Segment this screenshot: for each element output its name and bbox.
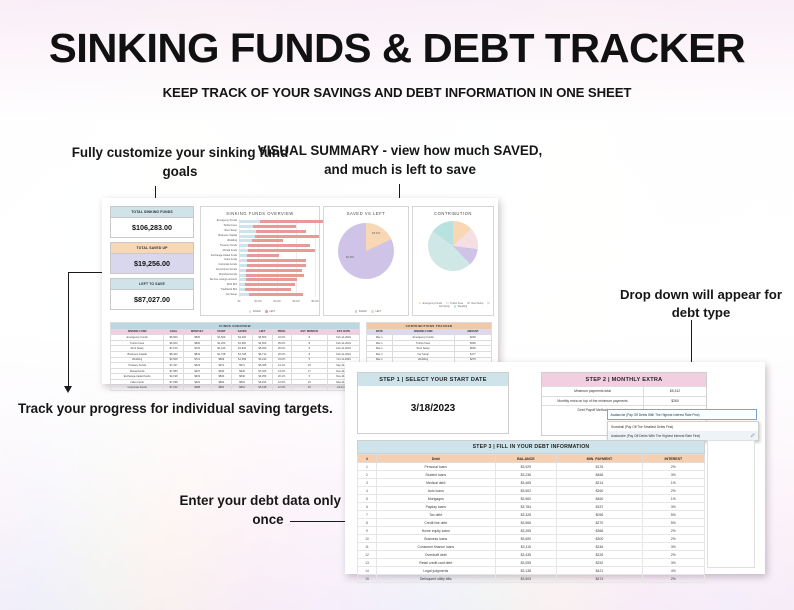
annotation-visual-summary: VISUAL SUMMARY - view how much SAVED, an… [250, 142, 550, 179]
chart-bar [239, 244, 315, 247]
table-group-title: CONTRIBUTIONS TRACKER [367, 323, 492, 330]
table-cell[interactable]: $3,236 [495, 471, 557, 479]
table-cell[interactable]: $176 [557, 463, 643, 471]
table-cell[interactable]: $096 [557, 511, 643, 519]
table-cell[interactable]: $3,138 [495, 567, 557, 575]
table-cell[interactable]: $6,198 [253, 385, 273, 391]
table-row[interactable]: 2Student loans$3,236$4663% [358, 471, 705, 479]
legend-label-left: LEFT [269, 310, 275, 313]
kpi-value: $106,283.00 [110, 218, 194, 239]
chart-x-tick: $8,000 [311, 300, 318, 303]
chart-plot-area: $0$2,000$4,000$6,000$8,000 [239, 219, 315, 297]
chart-category-label: Municipal bonds [203, 273, 237, 276]
chart-bar [239, 269, 315, 272]
table-row[interactable]: 8Credit line debt$3,566$2705% [358, 519, 705, 527]
table-cell[interactable]: Home equity loans [377, 527, 496, 535]
annotation-track-progress: Track your progress for individual savin… [18, 398, 348, 419]
chart-bar [239, 278, 315, 281]
table-cell[interactable]: 5% [642, 519, 704, 527]
chart-category-label: Treasury bonds [203, 244, 237, 247]
row-value[interactable]: $5,312 [643, 387, 706, 396]
pie-label-left-pct: 81.9% [346, 255, 354, 259]
table-cell[interactable]: Auto loans [377, 487, 496, 495]
table-cell[interactable]: $270 [557, 519, 643, 527]
kpi-left-to-save: LEFT TO SAVE $87,027.00 [110, 278, 194, 310]
chart-bar-left [246, 269, 302, 272]
chart-bar-left [260, 220, 325, 223]
table-cell[interactable]: 6 [358, 503, 377, 511]
table-row[interactable]: 9Home equity loans$3,265$3662% [358, 527, 705, 535]
table-cell[interactable]: Payday loans [377, 503, 496, 511]
debt-information-table[interactable]: #DebtBALANCEMIN. PAYMENTINTEREST 1Person… [357, 454, 705, 583]
chart-bar [239, 274, 315, 277]
chart-category-label: Traditional IRA [203, 288, 237, 291]
chart-legend: SAVED LEFT [324, 310, 408, 313]
table-cell[interactable]: 1 [358, 463, 377, 471]
table-cell[interactable]: 12.3% [272, 385, 291, 391]
table-cell[interactable]: Personal loans [377, 463, 496, 471]
table-cell[interactable]: $3,929 [495, 463, 557, 471]
table-cell[interactable]: $864 [232, 385, 253, 391]
chart-bar-left [246, 274, 304, 277]
table-cell[interactable]: Credit line debt [377, 519, 496, 527]
table-row[interactable]: 7Tax debt$3,328$0965% [358, 511, 705, 519]
table-cell[interactable]: $466 [557, 471, 643, 479]
dropdown-option-snowball[interactable]: Snowball (Pay Off The Smallest Debts Fir… [608, 422, 758, 431]
table-row[interactable]: 14Legal judgments$3,138$4214% [358, 567, 705, 575]
table-cell[interactable]: 1% [642, 479, 704, 487]
legend-label-left: LEFT [375, 310, 381, 313]
chart-bar [239, 288, 315, 291]
chart-contribution[interactable]: CONTRIBUTION Emergency FundsTuition Fees… [412, 206, 494, 316]
debt-payoff-method-select[interactable]: Avalanche (Pay Off Debts With The Highes… [607, 409, 757, 420]
chart-bar [239, 283, 315, 286]
kpi-value: $87,027.00 [110, 290, 194, 311]
table-cell[interactable]: 10 [358, 535, 377, 543]
chart-x-tick: $0 [238, 300, 241, 303]
chart-bar [239, 264, 315, 267]
table-cell[interactable]: 4 [358, 487, 377, 495]
legend-label: Wedding [458, 305, 467, 308]
chart-bar-left [246, 278, 297, 281]
step2-row-monthly-extra: Monthly extra on top of the minimum paym… [542, 396, 706, 406]
table-cell[interactable]: $214 [557, 479, 643, 487]
dropdown-option-avalanche[interactable]: Avalanche (Pay Off Debts With The Highes… [608, 431, 758, 440]
table-cell[interactable]: 3% [642, 471, 704, 479]
table-cell[interactable]: 2% [642, 535, 704, 543]
table-cell[interactable]: $366 [557, 527, 643, 535]
start-date-value[interactable]: 3/18/2023 [358, 386, 508, 414]
chart-bar-saved [239, 235, 255, 238]
table-cell[interactable]: 8 [358, 519, 377, 527]
pie-shape [428, 221, 478, 271]
debt-tracker-screenshot[interactable]: STEP 1 | SELECT YOUR START DATE 3/18/202… [345, 362, 765, 574]
table-cell[interactable]: 2% [642, 527, 704, 535]
table-cell[interactable]: 7 [358, 511, 377, 519]
chart-saved-vs-left[interactable]: SAVED VS LEFT 81.9% 18.1% SAVED LEFT [323, 206, 409, 316]
table-cell[interactable]: $3,502 [495, 487, 557, 495]
chart-bar [239, 249, 315, 252]
annotation-dropdown-debt-type: Drop down will appear for debt type [608, 286, 794, 322]
table-row[interactable]: 15Delinquent utility bills$3,503$4742% [358, 575, 705, 583]
chart-bar-left [249, 293, 302, 296]
step1-title: STEP 1 | SELECT YOUR START DATE [358, 373, 508, 386]
kpi-caption: LEFT TO SAVE [110, 278, 194, 290]
chart-category-label: Emergency Funds [203, 219, 237, 222]
table-cell[interactable]: Corporate bonds [111, 385, 164, 391]
column-header: INTEREST [642, 455, 704, 463]
table-cell[interactable]: 2% [642, 575, 704, 583]
table-cell[interactable]: $3,690 [495, 535, 557, 543]
chart-bar [239, 225, 315, 228]
legend-swatch [454, 305, 457, 308]
table-cell[interactable]: Retail credit card debt [377, 559, 496, 567]
funds-overview-table[interactable]: FUNDS OVERVIEW SINKING FUNDGOALMONTHLYST… [110, 322, 360, 391]
table-cell[interactable]: 3% [642, 503, 704, 511]
kpi-total-sinking-funds: TOTAL SINKING FUNDS $106,283.00 [110, 206, 194, 238]
table-cell[interactable]: Delinquent utility bills [377, 575, 496, 583]
chart-category-label: Car Setup [203, 293, 237, 296]
table-cell[interactable]: $252 [557, 559, 643, 567]
step3-panel[interactable]: STEP 3 | FILL IN YOUR DEBT INFORMATION #… [357, 440, 705, 583]
legend-label: Car Setup [439, 305, 450, 308]
chart-category-label: Rent Setup [203, 229, 237, 232]
legend-swatch-saved [355, 310, 358, 313]
table-cell[interactable]: $3,503 [495, 575, 557, 583]
table-cell[interactable]: $3,328 [495, 511, 557, 519]
chart-bar-saved [239, 244, 248, 247]
table-row[interactable]: 3Medical debt$3,465$2141% [358, 479, 705, 487]
chart-bar-left [247, 264, 306, 267]
table-cell[interactable]: 13 [358, 559, 377, 567]
table-body: Emergency Funds$9,000$500$1,500$2,200$6,… [111, 335, 360, 391]
kpi-value: $19,256.00 [110, 254, 194, 275]
chart-bar-left [245, 288, 291, 291]
chart-x-tick: $2,000 [254, 300, 261, 303]
chart-category-label: Index funds [203, 258, 237, 261]
chart-bar [239, 230, 315, 233]
chart-category-label: Roth IRA [203, 283, 237, 286]
table-cell[interactable]: 5% [642, 511, 704, 519]
table-cell[interactable]: 14 [358, 567, 377, 575]
table-cell[interactable]: Business loans [377, 535, 496, 543]
step2-row-minimum-total: Minimum payments total $5,312 [542, 386, 706, 396]
kpi-total-saved-up: TOTAL SAVED UP $19,256.00 [110, 242, 194, 274]
table-cell[interactable]: $3,566 [495, 519, 557, 527]
leader-line-4-v [68, 272, 69, 390]
chart-x-tick: $6,000 [292, 300, 299, 303]
pie-shape [338, 223, 394, 279]
chart-category-label: Tax-free savings account [203, 278, 237, 281]
chart-category-label: Wedding [203, 239, 237, 242]
table-header-row: #DebtBALANCEMIN. PAYMENTINTEREST [358, 455, 705, 463]
table-cell[interactable]: Overdraft debt [377, 551, 496, 559]
table-cell[interactable]: 2% [642, 487, 704, 495]
table-cell[interactable]: $3,265 [495, 527, 557, 535]
table-cell[interactable]: 5 [358, 495, 377, 503]
row-value[interactable]: $260 [643, 397, 706, 406]
table-row[interactable]: 6Payday loans$3,784$1573% [358, 503, 705, 511]
table-cell[interactable]: $421 [557, 567, 643, 575]
chart-bar-saved [239, 293, 249, 296]
table-row[interactable]: 13Retail credit card debt$3,055$2523% [358, 559, 705, 567]
table-cell[interactable]: 11 [358, 543, 377, 551]
table-row[interactable]: 4Auto loans$3,502$2602% [358, 487, 705, 495]
chart-legend: SAVED LEFT [201, 310, 319, 313]
chart-bar-saved [239, 225, 253, 228]
chart-bar-left [255, 235, 319, 238]
table-cell[interactable]: $3,784 [495, 503, 557, 511]
leader-line-5 [290, 521, 352, 522]
chart-bar-left [248, 244, 309, 247]
arrow-head-4 [64, 386, 72, 393]
table-row[interactable]: Corporate bonds$7,042$388$864$864$6,1981… [111, 385, 360, 391]
legend-label: Tuition Fees [450, 302, 463, 305]
table-cell[interactable]: 4% [642, 567, 704, 575]
table-cell[interactable]: Student loans [377, 471, 496, 479]
step3-title: STEP 3 | FILL IN YOUR DEBT INFORMATION [357, 440, 705, 454]
table-cell[interactable]: $260 [557, 487, 643, 495]
table-cell[interactable]: $300 [557, 535, 643, 543]
row-label: Minimum payments total [542, 387, 643, 396]
table-cell[interactable]: $474 [557, 575, 643, 583]
chart-bar-saved [239, 249, 248, 252]
chart-title: SINKING FUNDS OVERVIEW [201, 207, 319, 216]
legend-label: Emergency Funds [423, 302, 442, 305]
legend-label-saved: SAVED [253, 310, 261, 313]
table-cell[interactable]: Consumer finance loans [377, 543, 496, 551]
table-cell[interactable]: $3,465 [495, 479, 557, 487]
table-cell[interactable]: 9 [358, 527, 377, 535]
table-group-title: FUNDS OVERVIEW [111, 323, 360, 330]
table-cell[interactable]: $3,435 [495, 551, 557, 559]
chart-bar [239, 254, 315, 257]
table-cell[interactable]: $388 [183, 385, 211, 391]
table-cell[interactable]: Mortgages [377, 495, 496, 503]
chart-sinking-funds-overview[interactable]: SINKING FUNDS OVERVIEW $0$2,000$4,000$6,… [200, 206, 320, 316]
legend-label-saved: SAVED [359, 310, 367, 313]
page-header: SINKING FUNDS & DEBT TRACKER KEEP TRACK … [0, 28, 794, 100]
table-row[interactable]: 1Personal loans$3,929$1762% [358, 463, 705, 471]
chart-bar-left [247, 259, 306, 262]
table-cell[interactable]: $3,960 [495, 495, 557, 503]
chart-category-label: Mutual funds [203, 249, 237, 252]
chart-title: SAVED VS LEFT [324, 207, 408, 216]
pencil-icon[interactable] [750, 433, 755, 438]
chart-category-label: Government bonds [203, 268, 237, 271]
chart-bar [239, 220, 315, 223]
table-body: 1Personal loans$3,929$1762%2Student loan… [358, 463, 705, 583]
chart-bar-left [253, 225, 296, 228]
kpi-caption: TOTAL SINKING FUNDS [110, 206, 194, 218]
chart-bar-saved [239, 220, 260, 223]
step2-title: STEP 2 | MONTHLY EXTRA [542, 373, 706, 386]
chart-x-tick: $4,000 [273, 300, 280, 303]
chart-bar-left [252, 239, 283, 242]
step1-panel[interactable]: STEP 1 | SELECT YOUR START DATE 3/18/202… [357, 372, 509, 434]
chart-bar-left [245, 283, 294, 286]
table-row[interactable]: 11Consumer finance loans$3,115$2463% [358, 543, 705, 551]
column-header: BALANCE [495, 455, 557, 463]
debt-payoff-method-dropdown-list[interactable]: Snowball (Pay Off The Smallest Debts Fir… [607, 421, 759, 441]
table-row[interactable]: 12Overdraft debt$3,435$2262% [358, 551, 705, 559]
table-cell[interactable]: 2% [642, 463, 704, 471]
table-cell[interactable]: 3 [358, 479, 377, 487]
pie-label-saved-pct: 18.1% [372, 231, 380, 235]
table-cell[interactable]: $460 [557, 495, 643, 503]
legend-swatch-left [371, 310, 374, 313]
chart-bar-saved [239, 230, 256, 233]
table-cell[interactable]: Tax debt [377, 511, 496, 519]
table-cell[interactable]: 2 [358, 471, 377, 479]
chart-bar [239, 239, 315, 242]
chart-legend: Emergency FundsTuition FeesRent SetupCar… [413, 302, 493, 309]
table-cell[interactable]: $7,042 [164, 385, 184, 391]
table-cell[interactable]: $3,055 [495, 559, 557, 567]
table-cell[interactable]: $246 [557, 543, 643, 551]
table-cell[interactable]: $157 [557, 503, 643, 511]
chart-bar-saved [239, 274, 246, 277]
row-label: Monthly extra on top of the minimum paym… [542, 397, 643, 406]
chart-category-label: Business Capital [203, 234, 237, 237]
table-cell[interactable]: $226 [557, 551, 643, 559]
legend-swatch-saved [249, 310, 252, 313]
chart-category-label: Corporate bonds [203, 263, 237, 266]
table-cell[interactable]: $3,115 [495, 543, 557, 551]
chart-bar-saved [239, 259, 247, 262]
table-row[interactable]: 10Business loans$3,690$3002% [358, 535, 705, 543]
legend-label: Rent Setup [471, 302, 483, 305]
chart-category-label: Tuition Fees [203, 224, 237, 227]
table-cell[interactable]: Medical debt [377, 479, 496, 487]
page-subtitle: KEEP TRACK OF YOUR SAVINGS AND DEBT INFO… [0, 85, 794, 100]
annotation-enter-debt-data: Enter your debt data only at once [168, 492, 368, 529]
legend-swatch [487, 302, 490, 305]
chart-bar-saved [239, 264, 247, 267]
kpi-caption: TOTAL SAVED UP [110, 242, 194, 254]
table-cell[interactable]: 3% [642, 559, 704, 567]
legend-swatch-left [265, 310, 268, 313]
chart-bar-left [256, 230, 306, 233]
legend-swatch [419, 302, 422, 305]
chart-bar [239, 293, 315, 296]
chart-bar-saved [239, 254, 247, 257]
table-cell[interactable]: 12 [358, 551, 377, 559]
table-cell[interactable]: 2% [642, 551, 704, 559]
chart-title: CONTRIBUTION [413, 207, 493, 216]
legend-swatch [467, 302, 470, 305]
column-header: Debt [377, 455, 496, 463]
column-header: # [358, 455, 377, 463]
chart-bar-left [247, 254, 279, 257]
chart-bar [239, 235, 315, 238]
table-cell[interactable]: 15 [358, 575, 377, 583]
table-cell[interactable]: Legal judgments [377, 567, 496, 575]
page-title: SINKING FUNDS & DEBT TRACKER [0, 28, 794, 69]
debt-table-side-column [707, 440, 755, 568]
chart-bar [239, 259, 315, 262]
chart-bar-left [248, 249, 315, 252]
table-cell[interactable]: $864 [211, 385, 231, 391]
dashboard-screenshot[interactable]: TOTAL SINKING FUNDS $106,283.00 TOTAL SA… [102, 198, 498, 384]
table-cell[interactable]: 1% [642, 495, 704, 503]
table-row[interactable]: 5Mortgages$3,960$4601% [358, 495, 705, 503]
chart-category-label: Exchange-traded funds [203, 254, 237, 257]
table-cell[interactable]: 3% [642, 543, 704, 551]
chart-bar-saved [239, 239, 252, 242]
column-header: MIN. PAYMENT [557, 455, 643, 463]
chart-bar-saved [239, 269, 246, 272]
legend-swatch [446, 302, 449, 305]
table-cell[interactable]: 16 [291, 385, 328, 391]
